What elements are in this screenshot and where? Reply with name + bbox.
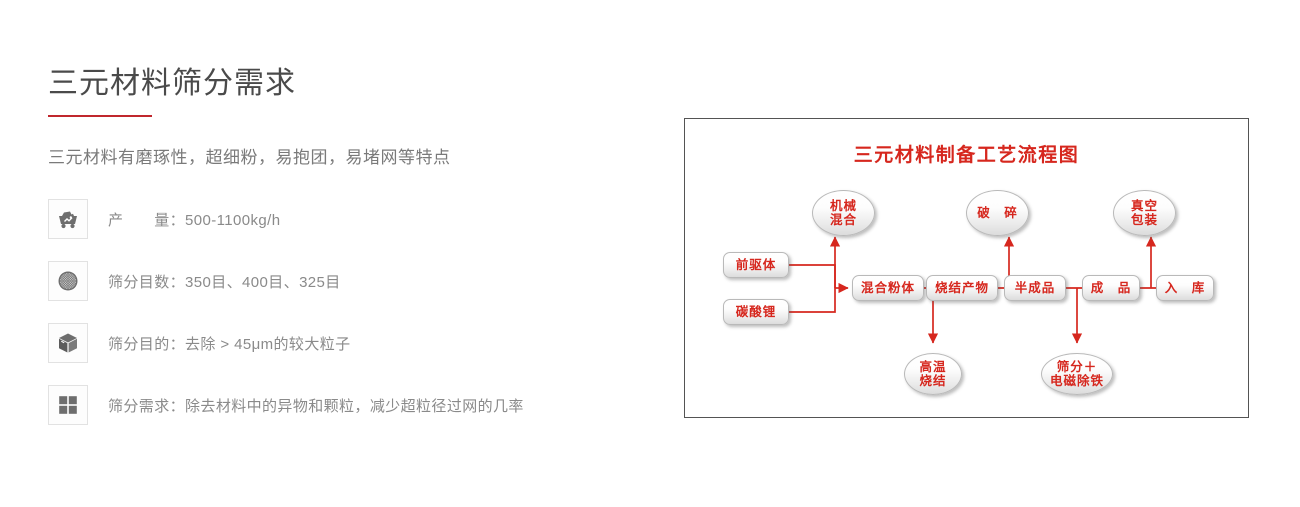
flow-node-label: 入 库 xyxy=(1165,281,1206,295)
mine-cart-icon xyxy=(48,199,88,239)
left-content-column: 三元材料筛分需求 三元材料有磨琢性，超细粉，易抱团，易堵网等特点 产 量：500… xyxy=(48,62,648,444)
flow-node-label: 筛分＋ 电磁除铁 xyxy=(1050,360,1104,388)
flow-node-label: 混合粉体 xyxy=(861,281,915,295)
feature-text-purpose: 筛分目的：去除 > 45μm的较大粒子 xyxy=(108,333,351,354)
feature-value-capacity: 500-1100kg/h xyxy=(185,212,280,229)
flow-node-finished-product[interactable]: 成 品 xyxy=(1082,275,1140,301)
flow-node-precursor[interactable]: 前驱体 xyxy=(723,252,789,278)
flow-node-label: 破 碎 xyxy=(977,206,1018,220)
feature-label-purpose: 筛分目的： xyxy=(108,336,185,353)
flow-node-screening-magnetic-iron-removal[interactable]: 筛分＋ 电磁除铁 xyxy=(1041,353,1113,395)
feature-item-requirement: 筛分需求：除去材料中的异物和颗粒，减少超粒径过网的几率 xyxy=(48,382,648,428)
flow-node-mechanical-mixing[interactable]: 机械 混合 xyxy=(812,190,875,236)
feature-value-purpose: 去除 > 45μm的较大粒子 xyxy=(185,336,351,353)
cube-box-icon xyxy=(48,323,88,363)
feature-item-mesh: 筛分目数：350目、400目、325目 xyxy=(48,258,648,304)
feature-text-capacity: 产 量：500-1100kg/h xyxy=(108,209,280,230)
grid-squares-icon xyxy=(48,385,88,425)
feature-item-purpose: 筛分目的：去除 > 45μm的较大粒子 xyxy=(48,320,648,366)
process-flow-panel: 三元材料制备工艺流程图 xyxy=(684,118,1249,418)
sieve-mesh-icon xyxy=(48,261,88,301)
feature-list: 产 量：500-1100kg/h 筛分目数：350目、400目、3 xyxy=(48,196,648,428)
flow-node-high-temp-sintering[interactable]: 高温 烧结 xyxy=(904,353,962,395)
flow-node-label: 前驱体 xyxy=(736,258,777,272)
page-title: 三元材料筛分需求 xyxy=(48,62,648,106)
feature-item-capacity: 产 量：500-1100kg/h xyxy=(48,196,648,242)
flow-node-crushing[interactable]: 破 碎 xyxy=(966,190,1029,236)
feature-label-requirement: 筛分需求： xyxy=(108,398,185,415)
flow-node-sintered-product[interactable]: 烧结产物 xyxy=(926,275,998,301)
feature-text-requirement: 筛分需求：除去材料中的异物和颗粒，减少超粒径过网的几率 xyxy=(108,395,524,416)
flow-node-lithium-carbonate[interactable]: 碳酸锂 xyxy=(723,299,789,325)
flow-node-label: 半成品 xyxy=(1015,281,1056,295)
flow-node-label: 机械 混合 xyxy=(830,199,857,227)
flow-node-label: 烧结产物 xyxy=(935,281,989,295)
flow-node-label: 真空 包装 xyxy=(1131,199,1158,227)
feature-text-mesh: 筛分目数：350目、400目、325目 xyxy=(108,271,341,292)
feature-value-mesh: 350目、400目、325目 xyxy=(185,274,341,291)
flow-node-mixed-powder[interactable]: 混合粉体 xyxy=(852,275,924,301)
flow-node-label: 碳酸锂 xyxy=(736,305,777,319)
flow-node-label: 成 品 xyxy=(1091,281,1132,295)
flow-node-vacuum-packaging[interactable]: 真空 包装 xyxy=(1113,190,1176,236)
flowchart-canvas: 机械 混合 破 碎 真空 包装 前驱体 碳酸锂 混合粉体 烧结产物 半成品 成 … xyxy=(685,119,1250,419)
feature-label-mesh: 筛分目数： xyxy=(108,274,185,291)
page-subtitle: 三元材料有磨琢性，超细粉，易抱团，易堵网等特点 xyxy=(48,143,648,168)
flow-node-warehousing[interactable]: 入 库 xyxy=(1156,275,1214,301)
feature-label-capacity: 产 量： xyxy=(108,212,185,229)
flow-node-semi-finished[interactable]: 半成品 xyxy=(1004,275,1066,301)
feature-value-requirement: 除去材料中的异物和颗粒，减少超粒径过网的几率 xyxy=(185,398,524,415)
flow-node-label: 高温 烧结 xyxy=(919,360,946,388)
title-underline-accent xyxy=(48,115,152,117)
